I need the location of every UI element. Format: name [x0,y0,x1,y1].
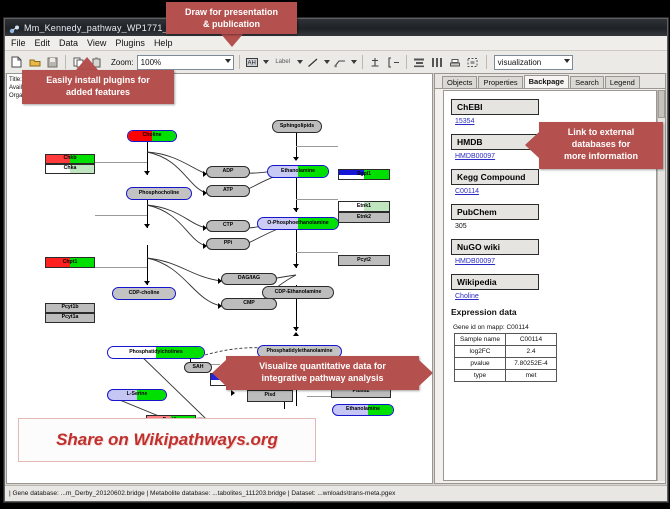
callout-share-text: Share on Wikipathways.org [56,430,278,450]
node-sah[interactable]: SAH [184,362,212,373]
datanode-icon[interactable]: AH [245,55,260,70]
menu-item-file[interactable]: File [11,38,26,48]
table-row: log2FC 2.4 [455,346,557,358]
node-dag-iag[interactable]: DAG/IAG [221,273,277,285]
datanode-dropdown-icon[interactable] [263,60,269,64]
node-phosphocholine[interactable]: Phosphocholine [126,187,192,200]
node-label: Chka [64,166,77,171]
node-cdp-choline[interactable]: CDP-choline [112,287,176,300]
menu-item-plugins[interactable]: Plugins [115,38,145,48]
node-pcyt1b[interactable]: Pcyt1b [45,303,95,313]
node-label: Phosphatidylcholines [129,350,183,355]
callout-visualize: Visualize quantitative data for integrat… [226,356,419,390]
node-cmp[interactable]: CMP [221,298,277,310]
align-icon[interactable] [412,55,427,70]
section-heading-chebi: ChEBI [451,99,539,115]
callout-visualize-tail-left [212,360,226,386]
tab-properties[interactable]: Properties [478,76,522,88]
node-etnk1[interactable]: Etnk1 [338,201,390,212]
edge [307,396,331,397]
gene-id-label: Gene id on mapp: C00114 [453,324,649,331]
graphical-line-icon[interactable] [333,55,348,70]
table-cell-key: Sample name [455,334,506,346]
menu-item-help[interactable]: Help [154,38,173,48]
node-phosphatidylcholines[interactable]: Phosphatidylcholines [107,346,205,359]
table-row: type met [455,370,557,382]
table-cell-key: pvalue [455,358,506,370]
line-icon[interactable] [306,55,321,70]
section-heading-pubchem: PubChem [451,204,539,220]
node-atp[interactable]: ATP [206,185,250,197]
node-pcyt1a[interactable]: Pcyt1a [45,313,95,323]
table-cell-value: 7.80252E-4 [506,358,557,370]
node-chka[interactable]: Chka [45,164,95,174]
node-label: Phosphatidylethanolamine [266,349,332,354]
statusbar-text: | Gene database: ...m_Derby_20120602.bri… [9,490,395,497]
label-icon[interactable]: Label [272,55,294,70]
zoom-label: Zoom: [111,58,134,67]
node-label: Ethanolamine [346,407,380,412]
node-sgpl1[interactable]: Sgpl1 [338,169,390,180]
menu-item-edit[interactable]: Edit [35,38,51,48]
chevron-down-icon [225,59,231,63]
node-label: O-Phosphoethanolamine [267,221,328,226]
node-label: Phosphocholine [139,191,179,196]
table-row: pvalue 7.80252E-4 [455,358,557,370]
node-label: Ptdss2 [352,389,369,394]
anchor-icon[interactable] [368,55,383,70]
section-heading-wikipedia: Wikipedia [451,274,539,290]
visualization-value: visualization [498,58,542,67]
expression-table: Sample name C00114 log2FC 2.4 pvalue 7.8… [454,333,557,382]
label-dropdown-icon[interactable] [297,60,303,64]
node-chkb[interactable]: Chkb [45,154,95,164]
bracket-icon[interactable] [386,55,401,70]
toolbar-separator [65,55,66,69]
node-label: ADP [223,169,234,174]
node-label: CTP [223,223,233,228]
node-label: Pcyt2 [357,258,371,263]
node-label: CDP-Ethanolamine [275,290,322,295]
tab-backpage[interactable]: Backpage [524,75,569,88]
node-cdp-ethanolamine[interactable]: CDP-Ethanolamine [262,286,334,299]
node-label: Chpt1 [63,260,78,265]
callout-draw: Draw for presentation & publication [166,2,297,34]
statusbar: | Gene database: ...m_Derby_20120602.bri… [5,485,667,501]
group-icon[interactable] [466,55,481,70]
node-label: Sgpl1 [357,172,371,177]
section-heading-kegg: Kegg Compound [451,169,539,185]
node-label: Chkb [64,156,77,161]
link-kegg[interactable]: C00114 [455,188,649,195]
node-label: SAH [193,365,204,370]
node-etnk2[interactable]: Etnk2 [338,212,390,223]
link-wikipedia[interactable]: Choline [455,293,649,300]
menu-item-data[interactable]: Data [59,38,78,48]
new-file-icon[interactable] [9,55,24,70]
callout-plugins-tail [76,57,98,70]
node-label: PPi [224,241,232,246]
pathvisio-icon [9,22,20,33]
line-dropdown-icon[interactable] [324,60,330,64]
titlebar: Mm_Kennedy_pathway_WP1771_45176.gpml [5,19,667,36]
arrow-icon [231,390,235,396]
node-label: Etnk2 [357,215,371,220]
menu-item-view[interactable]: View [87,38,106,48]
node-label: CDP-choline [129,291,160,296]
node-label: Etnk1 [357,204,371,209]
open-folder-icon[interactable] [27,55,42,70]
node-choline-top[interactable]: Choline [127,130,177,142]
node-label: Ethanolamine [281,169,315,174]
callout-share: Share on Wikipathways.org [18,418,316,462]
node-label: Pisd [265,393,276,398]
node-ethanolamine-top[interactable]: Ethanolamine [267,165,329,178]
tab-objects[interactable]: Objects [442,76,477,88]
node-label: Pcyt1a [62,315,79,320]
node-label: Choline [142,133,161,138]
visualization-combo[interactable]: visualization [494,55,573,70]
node-pcyt2[interactable]: Pcyt2 [338,255,390,266]
node-chpt1[interactable]: Chpt1 [45,257,95,268]
section-heading-nugo: NuGO wiki [451,239,539,255]
callout-link: Link to external databases for more info… [539,122,663,169]
node-label: CMP [243,301,255,306]
callout-visualize-tail-right [419,360,433,386]
table-cell-value: C00114 [506,334,557,346]
tab-search[interactable]: Search [570,76,604,88]
table-cell-key: type [455,370,506,382]
expression-data-title: Expression data [451,307,649,317]
callout-plugins: Easily install plugins for added feature… [22,70,174,104]
node-ethanolamine-bottom[interactable]: Ethanolamine [332,404,394,416]
scrollbar-thumb[interactable] [658,90,665,118]
node-o-phosphoethanolamine[interactable]: O-Phosphoethanolamine [257,217,339,230]
value-pubchem: 305 [455,223,649,230]
link-nugo[interactable]: HMDB00097 [455,258,649,265]
toolbar-separator [486,55,487,69]
node-label: Sphingolipids [280,124,314,129]
stack-icon[interactable] [448,55,463,70]
node-pisd[interactable]: Pisd [247,390,293,402]
node-adp[interactable]: ADP [206,166,250,178]
table-cell-key: log2FC [455,346,506,358]
node-label: Pcyt1b [61,305,78,310]
arrow-icon [293,332,299,336]
node-label: L-Serine [127,392,148,397]
zoom-combo[interactable]: 100% [137,55,234,70]
chevron-down-icon [564,59,570,63]
zoom-value: 100% [141,58,161,67]
distribute-icon[interactable] [430,55,445,70]
side-panel-tabs: Objects Properties Backpage Search Legen… [435,74,665,89]
callout-link-tail [525,132,539,158]
node-ctp[interactable]: CTP [206,220,250,232]
node-ppi[interactable]: PPi [206,238,250,250]
node-l-serine-left[interactable]: L-Serine [107,389,167,401]
table-row: Sample name C00114 [455,334,557,346]
table-cell-value: 2.4 [506,346,557,358]
node-label: DAG/IAG [238,276,260,281]
table-cell-value: met [506,370,557,382]
svg-text:AH: AH [248,60,256,66]
toolbar-separator [406,55,407,69]
save-disk-icon[interactable] [45,55,60,70]
menubar: File Edit Data View Plugins Help [5,36,667,51]
toolbar-separator [239,55,240,69]
tab-legend[interactable]: Legend [605,76,640,88]
toolbar-separator [362,55,363,69]
node-sphingolipids[interactable]: Sphingolipids [272,120,322,133]
callout-draw-tail [221,34,243,47]
graphical-line-dropdown-icon[interactable] [351,60,357,64]
node-label: ATP [223,188,233,193]
